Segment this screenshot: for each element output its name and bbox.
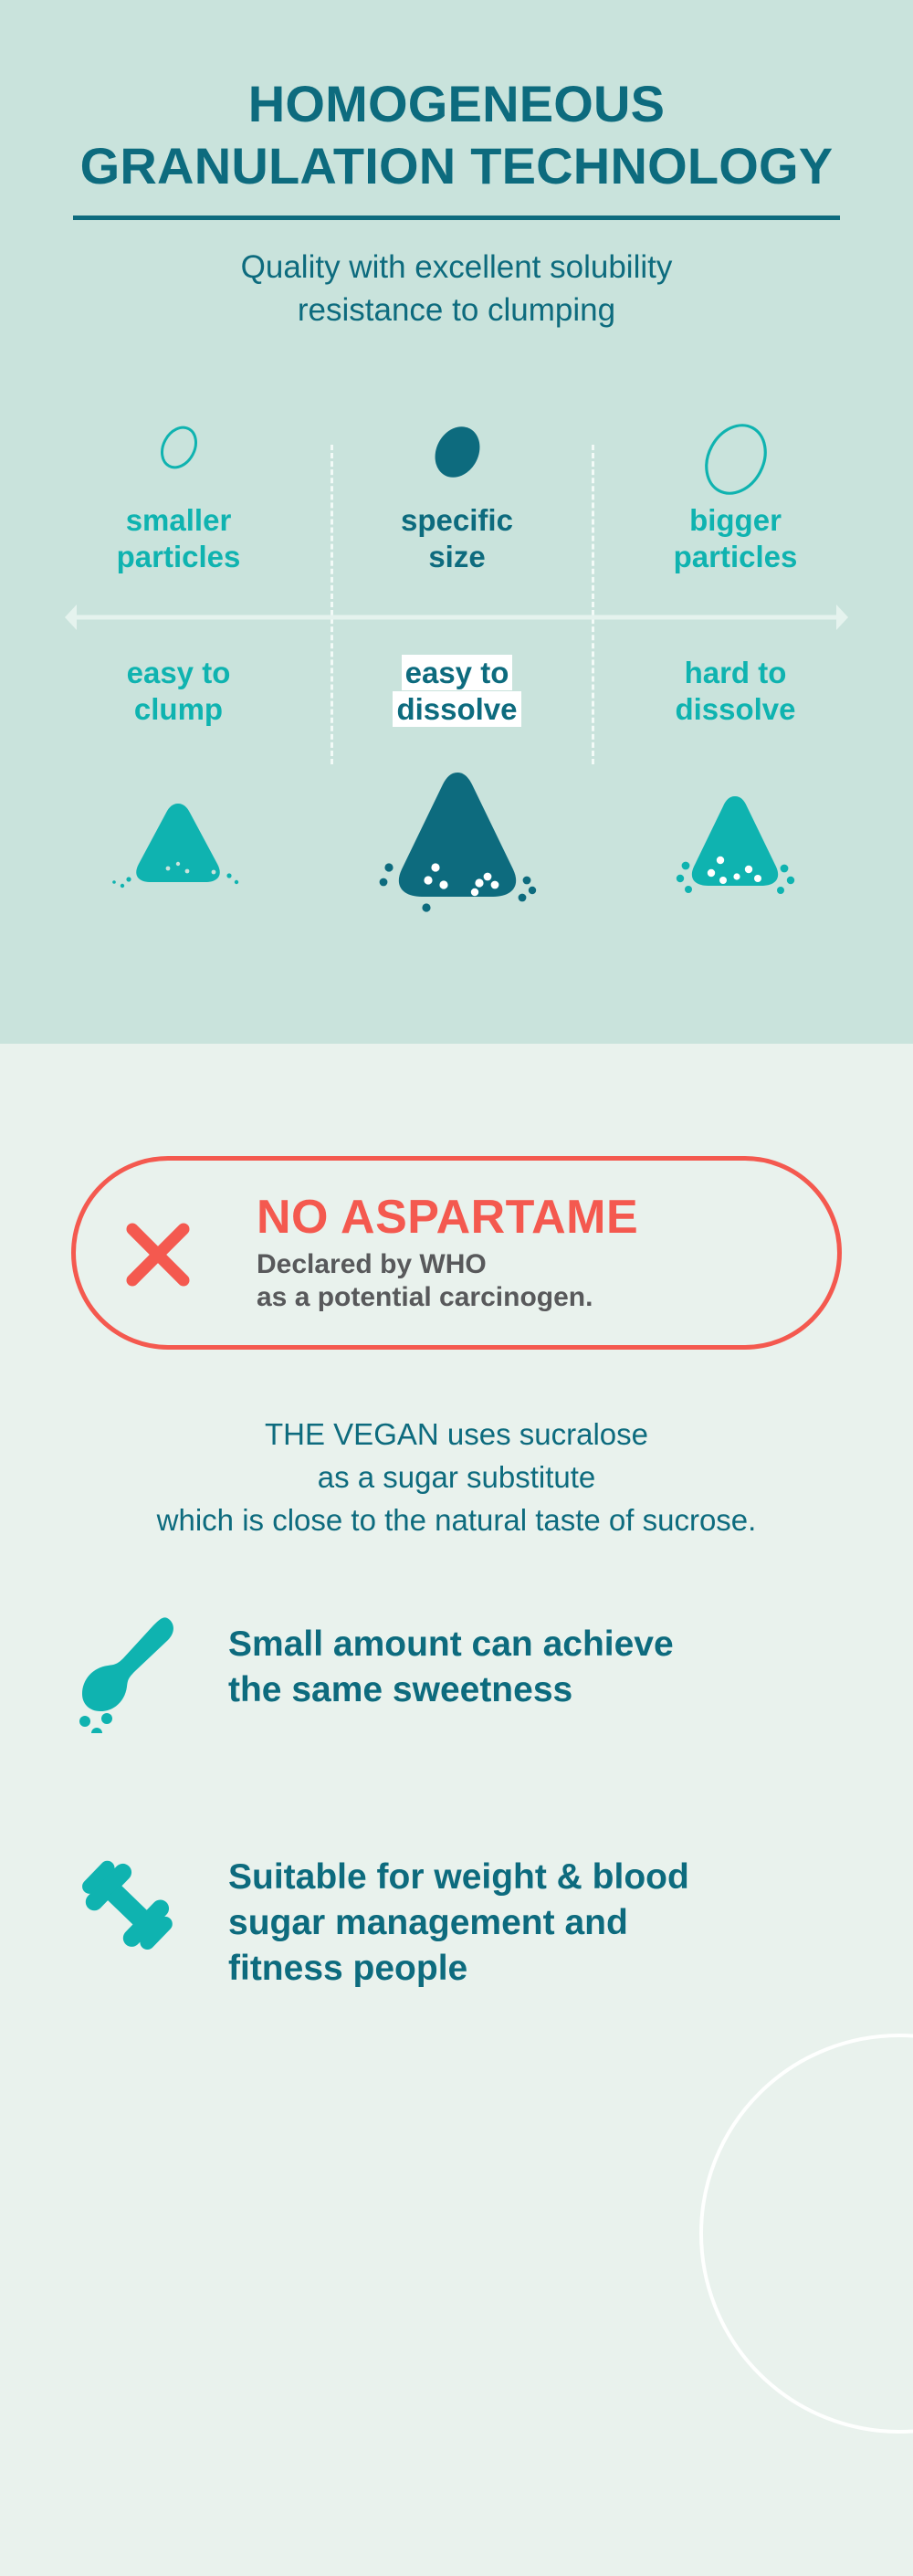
page-subtitle-line-1: Quality with excellent solubility [0, 247, 913, 289]
sucralose-paragraph-line-1: THE VEGAN uses sucralose [0, 1414, 913, 1456]
big-ellipse-outline-icon [695, 415, 777, 511]
page-title: HOMOGENEOUS GRANULATION TECHNOLOGY [0, 73, 913, 198]
behavior-center-line-2: dissolve [393, 691, 520, 727]
spoon-with-granules-icon [71, 1614, 181, 1733]
large-powder-pile-icon [305, 769, 609, 915]
x-cross-icon [123, 1220, 193, 1289]
page-title-line-1: HOMOGENEOUS [0, 73, 913, 135]
decorative-circle-outline [699, 2034, 913, 2434]
medium-powder-pile-icon [583, 769, 887, 915]
benefit-fitness-line-3: fitness people [228, 1946, 867, 1992]
no-aspartame-heading: NO ASPARTAME [257, 1193, 768, 1243]
small-ellipse-outline-icon [152, 415, 206, 484]
size-label-small-line-2: particles [26, 539, 331, 575]
small-powder-pile-icon [26, 769, 331, 915]
benefit-text-fitness: Suitable for weight & blood sugar manage… [228, 1855, 867, 1992]
benefit-text-sweetness: Small amount can achieve the same sweetn… [228, 1622, 867, 1713]
behavior-right-line-2: dissolve [583, 691, 887, 728]
no-aspartame-subtext: Declared by WHO as a potential carcinoge… [257, 1248, 768, 1315]
sucralose-paragraph-line-2: as a sugar substitute [0, 1456, 913, 1499]
size-label-bigger-particles: bigger particles [583, 502, 887, 574]
size-label-big-line-1: bigger [583, 502, 887, 539]
dumbbell-icon [71, 1847, 181, 1966]
title-divider-rule [73, 216, 840, 220]
particle-cell-big [583, 415, 887, 498]
behavior-label-easy-to-clump: easy to clump [26, 655, 331, 727]
benefit-sweetness-line-1: Small amount can achieve [228, 1622, 867, 1667]
size-label-specific-size: specific size [305, 502, 609, 574]
sweetener-section: NO ASPARTAME Declared by WHO as a potent… [0, 1044, 913, 2576]
size-label-smaller-particles: smaller particles [26, 502, 331, 574]
size-label-medium-line-1: specific [305, 502, 609, 539]
size-label-small-line-1: smaller [26, 502, 331, 539]
behavior-center-line-1: easy to [402, 655, 513, 690]
sucralose-paragraph: THE VEGAN uses sucralose as a sugar subs… [0, 1414, 913, 1542]
size-label-big-line-2: particles [583, 539, 887, 575]
behavior-right-line-1: hard to [583, 655, 887, 691]
behavior-left-line-1: easy to [26, 655, 331, 691]
benefit-fitness-line-1: Suitable for weight & blood [228, 1855, 867, 1900]
sucralose-paragraph-line-3: which is close to the natural taste of s… [0, 1499, 913, 1542]
benefit-sweetness-line-2: the same sweetness [228, 1667, 867, 1713]
benefit-fitness-line-2: sugar management and [228, 1900, 867, 1946]
double-headed-horizontal-arrow-icon [62, 601, 851, 634]
no-aspartame-subtext-line-2: as a potential carcinogen. [257, 1281, 768, 1315]
size-label-medium-line-2: size [305, 539, 609, 575]
behavior-left-line-2: clump [26, 691, 331, 728]
page-title-line-2: GRANULATION TECHNOLOGY [0, 135, 913, 197]
no-aspartame-text-block: NO ASPARTAME Declared by WHO as a potent… [257, 1193, 768, 1315]
page-subtitle-line-2: resistance to clumping [0, 289, 913, 332]
granulation-section: HOMOGENEOUS GRANULATION TECHNOLOGY Quali… [0, 0, 913, 1044]
particle-cell-medium [305, 415, 609, 498]
no-aspartame-subtext-line-1: Declared by WHO [257, 1248, 768, 1282]
medium-ellipse-filled-icon [425, 415, 489, 493]
behavior-label-hard-to-dissolve: hard to dissolve [583, 655, 887, 727]
page-subtitle: Quality with excellent solubility resist… [0, 247, 913, 331]
behavior-label-easy-to-dissolve: easy to dissolve [305, 655, 609, 727]
particle-cell-small [26, 415, 331, 498]
